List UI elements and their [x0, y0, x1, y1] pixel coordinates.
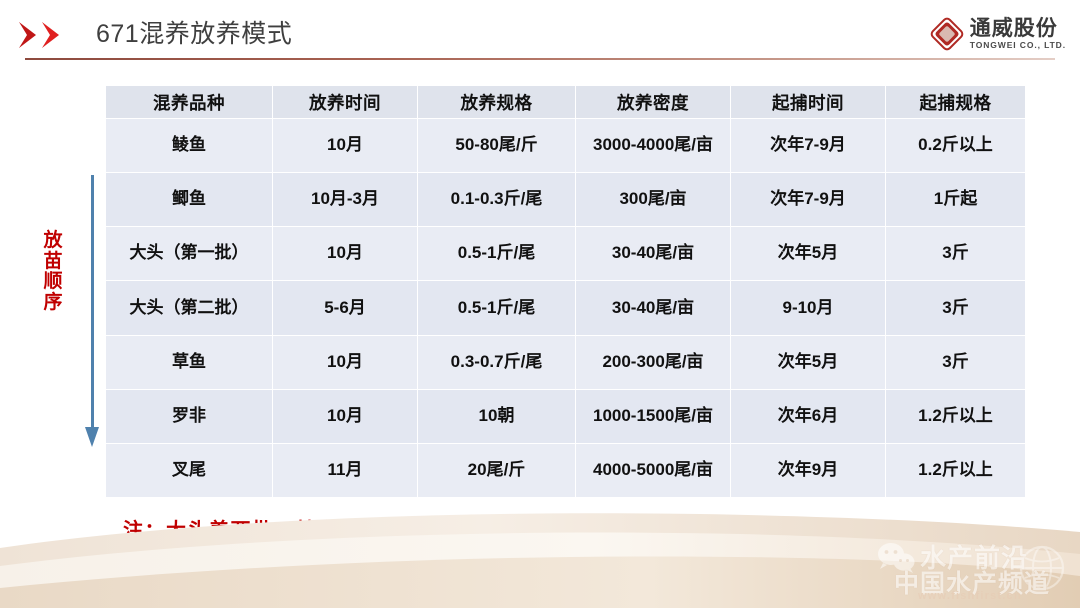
watermark-url: www.fishfirst.cn	[918, 590, 1022, 602]
cell-harvest-size: 1.2斤以上	[886, 389, 1026, 443]
cell-stocking-size: 0.5-1斤/尾	[418, 227, 576, 281]
cell-harvest-time: 次年5月	[731, 227, 886, 281]
table-header: 混养品种 放养时间 放养规格 放养密度 起捕时间 起捕规格	[106, 86, 1026, 119]
cell-stocking-density: 1000-1500尾/亩	[576, 389, 731, 443]
cell-harvest-time: 次年7-9月	[731, 119, 886, 173]
cell-harvest-size: 1.2斤以上	[886, 443, 1026, 497]
cell-species: 草鱼	[106, 335, 273, 389]
table-row: 鲮鱼 10月 50-80尾/斤 3000-4000尾/亩 次年7-9月 0.2斤…	[106, 119, 1026, 173]
cell-harvest-size: 0.2斤以上	[886, 119, 1026, 173]
cell-stocking-time: 10月-3月	[273, 173, 418, 227]
table-header-row: 混养品种 放养时间 放养规格 放养密度 起捕时间 起捕规格	[106, 86, 1026, 119]
cell-stocking-time: 11月	[273, 443, 418, 497]
page-title: 671混养放养模式	[96, 14, 292, 50]
header-divider	[25, 58, 1055, 60]
cell-harvest-time: 次年7-9月	[731, 173, 886, 227]
cell-stocking-size: 50-80尾/斤	[418, 119, 576, 173]
cell-harvest-size: 3斤	[886, 227, 1026, 281]
brand-name-en: TONGWEI CO., LTD.	[970, 41, 1066, 50]
cell-species: 大头（第一批）	[106, 227, 273, 281]
footnote: 注：大头养两批，其余一批	[123, 514, 381, 543]
stocking-table: 混养品种 放养时间 放养规格 放养密度 起捕时间 起捕规格 鲮鱼 10月 50-…	[105, 85, 1026, 498]
watermark-line-2: 中国水产频道	[894, 564, 1050, 600]
cell-stocking-density: 300尾/亩	[576, 173, 731, 227]
table-body: 鲮鱼 10月 50-80尾/斤 3000-4000尾/亩 次年7-9月 0.2斤…	[106, 119, 1026, 498]
cell-stocking-time: 5-6月	[273, 281, 418, 335]
cell-harvest-size: 3斤	[886, 335, 1026, 389]
stocking-order-indicator: 放苗顺序	[40, 175, 106, 450]
cell-species: 叉尾	[106, 443, 273, 497]
cell-stocking-size: 0.3-0.7斤/尾	[418, 335, 576, 389]
column-header-stocking-density: 放养密度	[576, 86, 731, 119]
table-row: 叉尾 11月 20尾/斤 4000-5000尾/亩 次年9月 1.2斤以上	[106, 443, 1026, 497]
cell-species: 罗非	[106, 389, 273, 443]
column-header-stocking-time: 放养时间	[273, 86, 418, 119]
table-row: 草鱼 10月 0.3-0.7斤/尾 200-300尾/亩 次年5月 3斤	[106, 335, 1026, 389]
double-chevron-right-icon	[19, 22, 79, 48]
cell-stocking-density: 3000-4000尾/亩	[576, 119, 731, 173]
cell-species: 鲮鱼	[106, 119, 273, 173]
table-row: 大头（第二批） 5-6月 0.5-1斤/尾 30-40尾/亩 9-10月 3斤	[106, 281, 1026, 335]
arrow-down-icon	[85, 175, 101, 450]
cell-stocking-time: 10月	[273, 227, 418, 281]
slide-root: 671混养放养模式 通威股份 TONGWEI CO., LTD. 放苗顺序	[0, 0, 1080, 608]
table-row: 罗非 10月 10朝 1000-1500尾/亩 次年6月 1.2斤以上	[106, 389, 1026, 443]
table-row: 大头（第一批） 10月 0.5-1斤/尾 30-40尾/亩 次年5月 3斤	[106, 227, 1026, 281]
cell-stocking-density: 200-300尾/亩	[576, 335, 731, 389]
cell-stocking-density: 30-40尾/亩	[576, 281, 731, 335]
brand-logo: 通威股份 TONGWEI CO., LTD.	[931, 16, 1066, 52]
cell-harvest-size: 1斤起	[886, 173, 1026, 227]
cell-stocking-density: 30-40尾/亩	[576, 227, 731, 281]
stocking-table-wrapper: 混养品种 放养时间 放养规格 放养密度 起捕时间 起捕规格 鲮鱼 10月 50-…	[105, 85, 1025, 498]
stocking-order-label: 放苗顺序	[40, 231, 66, 313]
watermark-line-1: 水产前沿	[920, 538, 1028, 575]
column-header-harvest-size: 起捕规格	[886, 86, 1026, 119]
table-row: 鲫鱼 10月-3月 0.1-0.3斤/尾 300尾/亩 次年7-9月 1斤起	[106, 173, 1026, 227]
cell-stocking-size: 0.5-1斤/尾	[418, 281, 576, 335]
cell-stocking-time: 10月	[273, 119, 418, 173]
cell-stocking-time: 10月	[273, 389, 418, 443]
globe-icon	[1018, 544, 1066, 592]
channel-watermark: 水产前沿 中国水产频道 www.fishfirst.cn	[872, 528, 1072, 604]
cell-stocking-size: 10朝	[418, 389, 576, 443]
tongwei-diamond-logo-icon	[931, 18, 963, 50]
slide-header: 671混养放养模式 通威股份 TONGWEI CO., LTD.	[0, 0, 1080, 66]
decorative-waves	[0, 488, 1080, 608]
cell-harvest-time: 9-10月	[731, 281, 886, 335]
cell-species: 大头（第二批）	[106, 281, 273, 335]
column-header-species: 混养品种	[106, 86, 273, 119]
cell-stocking-density: 4000-5000尾/亩	[576, 443, 731, 497]
brand-name-cn: 通威股份	[970, 18, 1066, 39]
cell-harvest-time: 次年6月	[731, 389, 886, 443]
brand-text: 通威股份 TONGWEI CO., LTD.	[970, 18, 1066, 50]
cell-harvest-time: 次年9月	[731, 443, 886, 497]
column-header-harvest-time: 起捕时间	[731, 86, 886, 119]
wechat-icon	[876, 542, 916, 574]
cell-harvest-size: 3斤	[886, 281, 1026, 335]
cell-species: 鲫鱼	[106, 173, 273, 227]
column-header-stocking-size: 放养规格	[418, 86, 576, 119]
cell-stocking-time: 10月	[273, 335, 418, 389]
cell-stocking-size: 0.1-0.3斤/尾	[418, 173, 576, 227]
cell-stocking-size: 20尾/斤	[418, 443, 576, 497]
cell-harvest-time: 次年5月	[731, 335, 886, 389]
